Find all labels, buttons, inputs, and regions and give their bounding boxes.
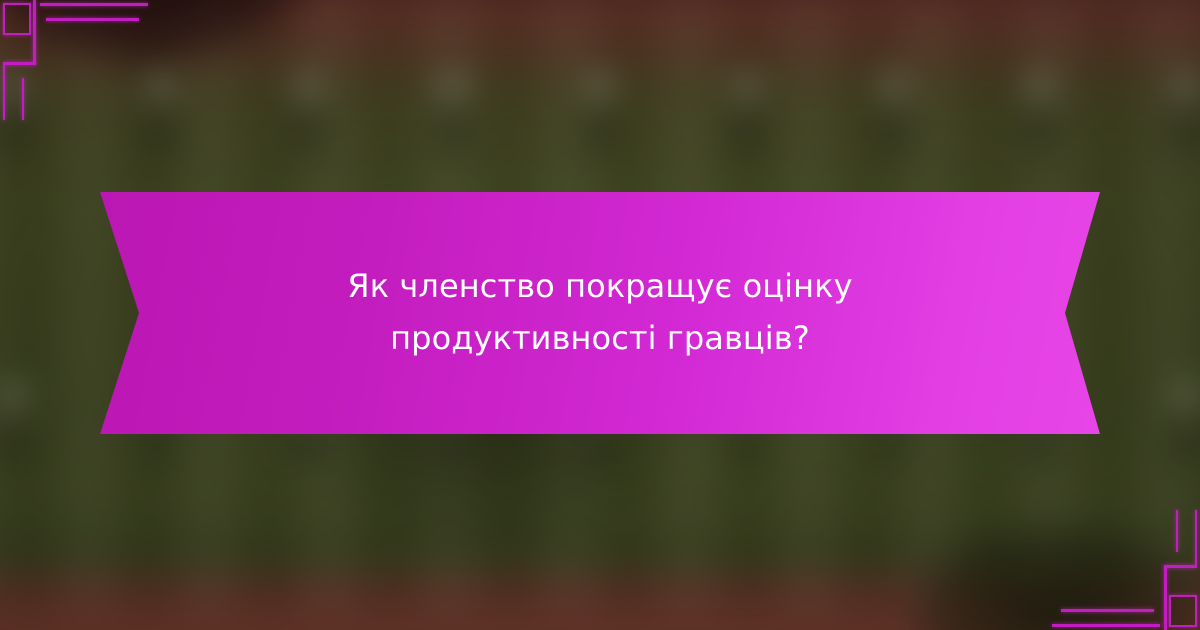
corner-bracket-horizontal — [3, 62, 36, 65]
corner-line-horizontal-1 — [1052, 624, 1160, 627]
corner-line-horizontal-1 — [40, 3, 148, 6]
corner-bracket-vertical — [33, 0, 36, 64]
corner-inner-line-vertical — [3, 64, 5, 120]
corner-square-icon — [3, 3, 31, 35]
corner-bracket-horizontal — [1164, 565, 1197, 568]
banner-title: Як членство покращує оцінку продуктивнос… — [210, 261, 990, 365]
corner-ornament-bottom-right — [1000, 510, 1200, 630]
corner-bracket-vertical — [1164, 566, 1167, 630]
headline-banner: Як членство покращує оцінку продуктивнос… — [100, 192, 1100, 434]
corner-ornament-top-left — [0, 0, 200, 120]
banner-card: Як членство покращує оцінку продуктивнос… — [0, 0, 1200, 630]
corner-line-horizontal-2 — [46, 18, 139, 21]
corner-inner-line-vertical-2 — [22, 78, 24, 120]
corner-line-horizontal-2 — [1061, 609, 1154, 612]
corner-inner-line-vertical — [1195, 510, 1197, 566]
corner-square-icon — [1169, 595, 1197, 627]
corner-inner-line-vertical-2 — [1176, 510, 1178, 552]
